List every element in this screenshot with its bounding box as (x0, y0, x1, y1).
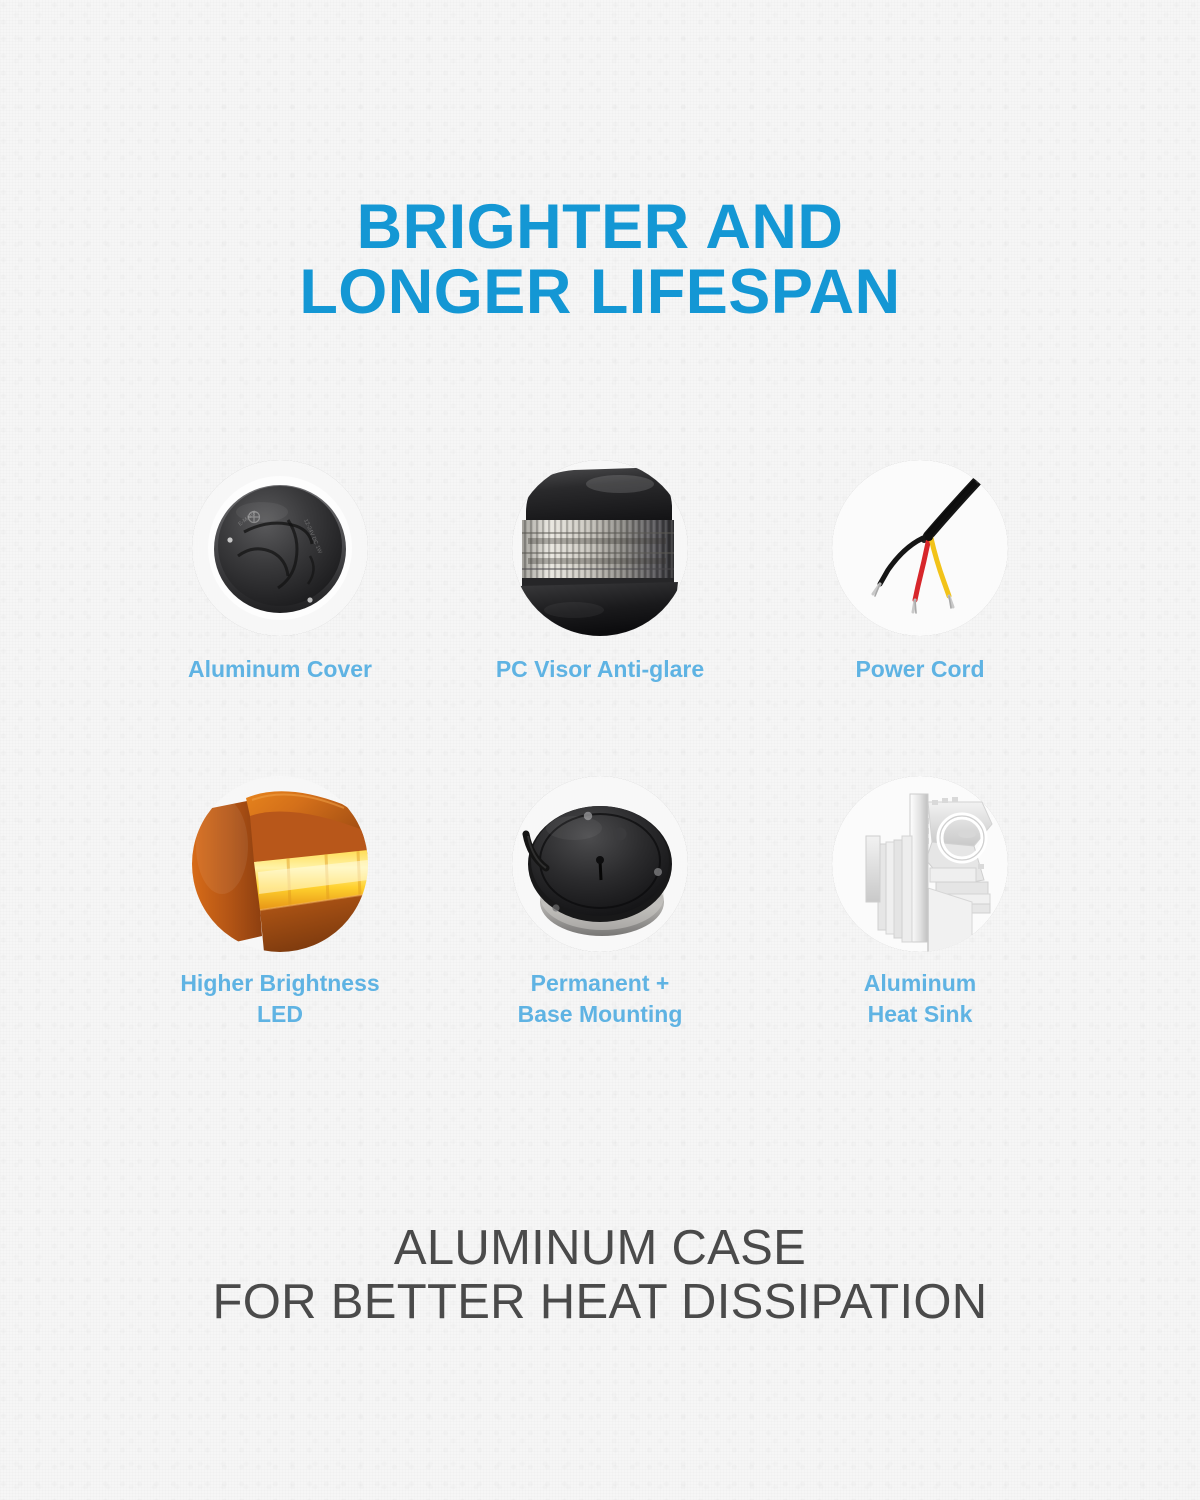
aluminum-cover-icon: E-MARK 12-24V DC 1W (192, 460, 368, 636)
pc-visor-icon (512, 460, 688, 636)
infographic-stage: BRIGHTER AND LONGER LIFESPAN (0, 0, 1200, 1500)
power-cord-icon (832, 460, 1008, 636)
feature-item-power-cord: Power Cord (760, 460, 1080, 684)
feature-item-heat-sink: Aluminum Heat Sink (760, 776, 1080, 1029)
feature-label-power-cord: Power Cord (855, 654, 984, 684)
feature-label-aluminum-cover: Aluminum Cover (188, 654, 372, 684)
page-title-line-1: BRIGHTER AND (0, 195, 1200, 260)
feature-label-pc-visor: PC Visor Anti-glare (496, 654, 704, 684)
feature-item-aluminum-cover: E-MARK 12-24V DC 1W Aluminum Cover (120, 460, 440, 684)
page-title-line-2: LONGER LIFESPAN (0, 260, 1200, 325)
footer-statement-line-1: ALUMINUM CASE (0, 1222, 1200, 1276)
page-title: BRIGHTER AND LONGER LIFESPAN (0, 195, 1200, 325)
feature-label-heat-sink: Aluminum Heat Sink (864, 968, 976, 1029)
footer-statement-line-2: FOR BETTER HEAT DISSIPATION (0, 1276, 1200, 1330)
mounting-base-icon (512, 776, 688, 952)
footer-statement: ALUMINUM CASE FOR BETTER HEAT DISSIPATIO… (0, 1222, 1200, 1330)
feature-grid: E-MARK 12-24V DC 1W Aluminum Cover (120, 460, 1080, 1029)
feature-label-higher-brightness-led: Higher Brightness LED (180, 968, 379, 1029)
heat-sink-icon (832, 776, 1008, 952)
feature-item-pc-visor: PC Visor Anti-glare (440, 460, 760, 684)
feature-label-base-mounting: Permanent + Base Mounting (518, 968, 683, 1029)
amber-led-icon (192, 776, 368, 952)
feature-item-higher-brightness-led: Higher Brightness LED (120, 776, 440, 1029)
feature-item-base-mounting: Permanent + Base Mounting (440, 776, 760, 1029)
